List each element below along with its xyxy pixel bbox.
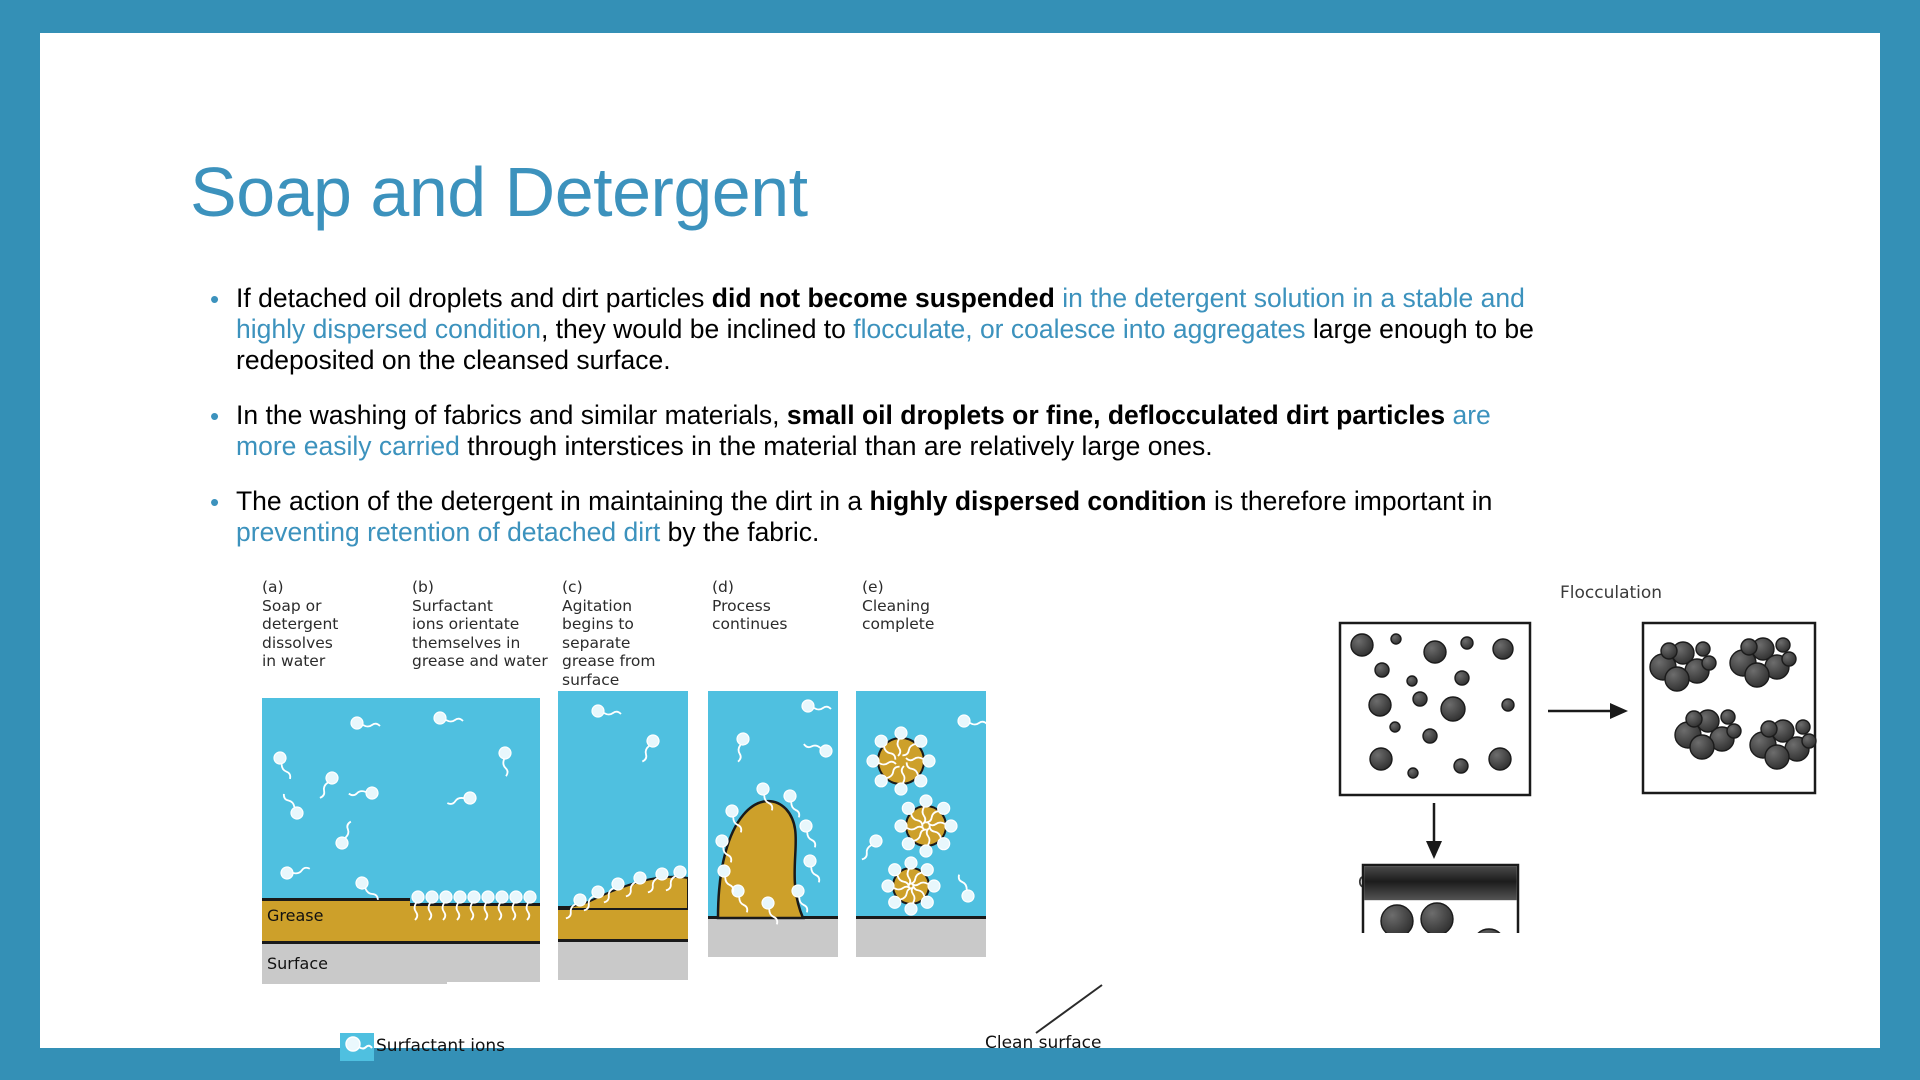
bullet-marker: •: [210, 487, 219, 518]
dispersed-particle: [1369, 694, 1391, 716]
coalesced-oil-layer: [1364, 866, 1517, 900]
surfactant-ion-icon: [335, 819, 354, 850]
surfactant-ion-icon: [468, 891, 480, 920]
panel-overlay: [410, 578, 540, 988]
dispersed-particle: [1351, 634, 1373, 656]
bullet-text-run: by the fabric.: [660, 517, 819, 547]
dispersed-particle: [1461, 637, 1473, 649]
surfactant-ion-icon: [735, 732, 749, 762]
dispersed-particle: [1413, 692, 1427, 706]
bullet-item: •In the washing of fabrics and similar m…: [200, 400, 1550, 462]
legend-swatch: [340, 1033, 374, 1061]
dispersed-particle: [1424, 641, 1446, 663]
surfactant-ion-icon: [859, 833, 884, 864]
bullet-list: •If detached oil droplets and dirt parti…: [200, 283, 1550, 572]
process-panel-b: [410, 578, 540, 988]
surfactant-ion-icon: [426, 891, 438, 920]
flocculated-particle: [1665, 667, 1689, 691]
floc-diagram-svg: [1310, 603, 1870, 933]
flocculated-particle: [1741, 639, 1757, 655]
process-panel-e: [856, 578, 986, 988]
flocculated-particle: [1690, 735, 1714, 759]
bullet-marker: •: [210, 284, 219, 315]
bullet-text-run: highly dispersed condition: [869, 486, 1206, 516]
flocculated-particle: [1782, 652, 1796, 666]
flocculated-particle: [1721, 710, 1735, 724]
surfactant-ion-icon: [802, 741, 833, 758]
dispersed-particle: [1407, 676, 1417, 686]
process-panel-d: [708, 578, 838, 988]
dispersed-particle: [1441, 697, 1465, 721]
flocculated-particle: [1745, 663, 1769, 687]
surfactant-ion-icon: [482, 891, 494, 920]
flocculation-coalescence-figure: Flocculation Coalescence: [1310, 583, 1870, 1033]
flocculated-particle: [1796, 720, 1810, 734]
surfactant-ion-icon: [524, 891, 536, 920]
bullet-item: •The action of the detergent in maintain…: [200, 486, 1550, 548]
process-panel-c: [558, 578, 688, 988]
bullet-text-run: If detached oil droplets and dirt partic…: [236, 283, 712, 313]
flocculated-particle: [1696, 642, 1710, 656]
dispersed-particle: [1502, 699, 1514, 711]
flocculation-label: Flocculation: [1560, 583, 1662, 603]
page-title: Soap and Detergent: [190, 157, 808, 227]
flocculated-particle: [1765, 745, 1789, 769]
bullet-text-run: flocculate, or coalesce into aggregates: [853, 314, 1305, 344]
detergent-process-figure: (a) Soap or detergent dissolves in water…: [262, 578, 1022, 878]
dispersed-particle: [1391, 634, 1401, 644]
surfactant-ion-icon: [951, 873, 976, 904]
dispersed-particle: [1493, 639, 1513, 659]
surfactant-ion-icon: [446, 790, 477, 811]
surfactant-ion-icon: [639, 733, 660, 764]
clean-surface-leader-line: [1030, 983, 1110, 1043]
surfactant-ion-icon: [277, 792, 305, 822]
bullet-text-run: , they would be inclined to: [541, 314, 853, 344]
surfactant-ion-icon: [351, 717, 380, 729]
dispersed-particle: [1489, 748, 1511, 770]
surfactant-ion-icon: [454, 891, 466, 920]
surfactant-ion-icon: [348, 786, 379, 802]
flocculated-particle: [1661, 643, 1677, 659]
surfactant-ion-icon: [340, 1033, 374, 1061]
surfactant-ion-icon: [510, 891, 522, 920]
panel-overlay: [708, 578, 838, 988]
dispersed-particle: [1423, 729, 1437, 743]
bullet-marker: •: [210, 401, 219, 432]
bullet-text-run: The action of the detergent in maintaini…: [236, 486, 869, 516]
surfactant-ion-icon: [592, 705, 621, 717]
dispersed-particle: [1390, 722, 1400, 732]
slide-canvas: Soap and Detergent •If detached oil drop…: [40, 33, 1880, 1048]
arrow-down-icon: [1426, 803, 1442, 859]
flocculated-particle: [1686, 711, 1702, 727]
surfactant-ion-icon: [802, 853, 827, 884]
dispersed-particle: [1375, 663, 1389, 677]
arrow-right-icon: [1548, 703, 1628, 719]
surfactant-ion-icon: [434, 712, 463, 724]
surfactant-ion-icon: [279, 860, 310, 880]
panel-overlay: [856, 578, 986, 988]
bullet-text-run: is therefore important in: [1207, 486, 1493, 516]
flocculated-particle: [1776, 638, 1790, 652]
surfactant-ion-icon: [354, 875, 384, 903]
bullet-text-run: small oil droplets or fine, deflocculate…: [787, 400, 1445, 430]
surfactant-ion-icon: [412, 891, 424, 920]
bullet-text-run: In the washing of fabrics and similar ma…: [236, 400, 787, 430]
dispersed-particle: [1408, 768, 1418, 778]
surfactant-ion-icon: [317, 770, 340, 801]
surfactant-ion-icon: [498, 746, 515, 777]
bullet-text-run: did not become suspended: [712, 283, 1055, 313]
surfactant-ion-icon: [272, 750, 298, 781]
coalesced-particle: [1421, 903, 1453, 933]
surfactant-ion-icon: [440, 891, 452, 920]
surfactant-ion-icon: [958, 715, 986, 727]
dispersed-particle: [1370, 748, 1392, 770]
flocculated-particle: [1727, 724, 1741, 738]
flocculated-particle: [1702, 656, 1716, 670]
surfactant-ion-icon: [802, 700, 831, 712]
dispersed-particle: [1455, 671, 1469, 685]
bullet-text-run: through interstices in the material than…: [460, 431, 1213, 461]
bullet-text-run: preventing retention of detached dirt: [236, 517, 660, 547]
legend-label: Surfactant ions: [376, 1036, 505, 1056]
coalesced-particle: [1381, 905, 1413, 933]
dispersed-particle: [1454, 759, 1468, 773]
surfactant-ion-icon: [798, 818, 823, 849]
flocculated-particle: [1761, 721, 1777, 737]
panel-overlay: [558, 578, 688, 988]
surfactant-ion-icon: [496, 891, 508, 920]
bullet-item: •If detached oil droplets and dirt parti…: [200, 283, 1550, 376]
flocculated-particle: [1802, 734, 1816, 748]
